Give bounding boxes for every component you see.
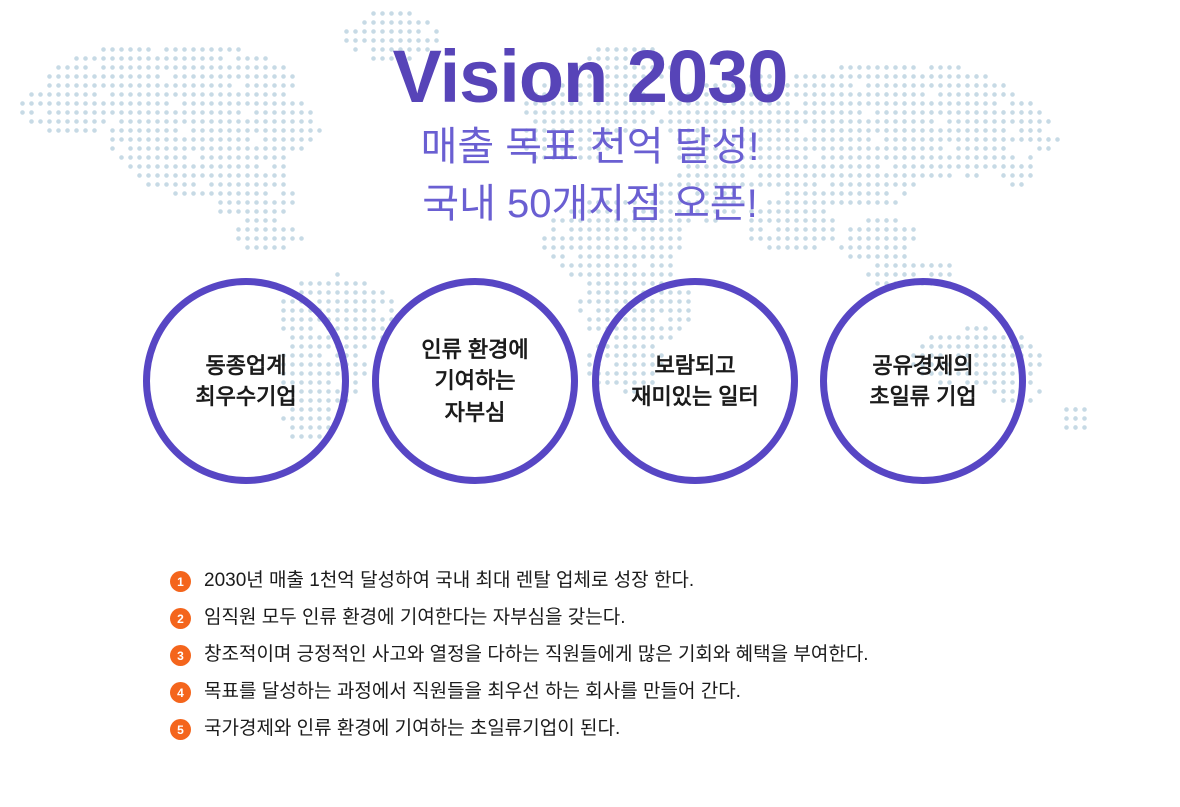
goal-number-badge: 5 — [170, 719, 191, 740]
poster-header: Vision 2030 매출 목표 천억 달성! 국내 50개지점 오픈! — [0, 38, 1180, 230]
value-circle-3-label: 보람되고 재미있는 일터 — [625, 350, 765, 412]
subtitle-line-2: 국내 50개지점 오픈! — [0, 179, 1180, 230]
value-circle-1: 동종업계 최우수기업 — [143, 278, 349, 484]
list-item: 2 임직원 모두 인류 환경에 기여한다는 자부심을 갖는다. — [170, 600, 1160, 637]
vision-2030-poster: Vision 2030 매출 목표 천억 달성! 국내 50개지점 오픈! 동종… — [0, 0, 1180, 807]
goal-text: 창조적이며 긍정적인 사고와 열정을 다하는 직원들에게 많은 기회와 혜택을 … — [204, 644, 869, 667]
subtitle-line-1: 매출 목표 천억 달성! — [0, 122, 1180, 173]
list-item: 4 목표를 달성하는 과정에서 직원들을 최우선 하는 회사를 만들어 간다. — [170, 674, 1160, 711]
goal-number-badge: 2 — [170, 608, 191, 629]
value-circle-1-label: 동종업계 최우수기업 — [189, 350, 302, 412]
goal-number-badge: 1 — [170, 571, 191, 592]
list-item: 3 창조적이며 긍정적인 사고와 열정을 다하는 직원들에게 많은 기회와 혜택… — [170, 637, 1160, 674]
goal-list: 1 2030년 매출 1천억 달성하여 국내 최대 렌탈 업체로 성장 한다. … — [170, 563, 1160, 748]
goal-text: 임직원 모두 인류 환경에 기여한다는 자부심을 갖는다. — [204, 607, 626, 630]
value-circles-row: 동종업계 최우수기업 인류 환경에 기여하는 자부심 보람되고 재미있는 일터 … — [0, 278, 1180, 496]
value-circle-3: 보람되고 재미있는 일터 — [592, 278, 798, 484]
goal-text: 2030년 매출 1천억 달성하여 국내 최대 렌탈 업체로 성장 한다. — [204, 570, 694, 593]
list-item: 1 2030년 매출 1천억 달성하여 국내 최대 렌탈 업체로 성장 한다. — [170, 563, 1160, 600]
value-circle-2: 인류 환경에 기여하는 자부심 — [372, 278, 578, 484]
list-item: 5 국가경제와 인류 환경에 기여하는 초일류기업이 된다. — [170, 711, 1160, 748]
goal-text: 목표를 달성하는 과정에서 직원들을 최우선 하는 회사를 만들어 간다. — [204, 681, 741, 704]
value-circle-2-label: 인류 환경에 기여하는 자부심 — [415, 334, 534, 428]
value-circle-4: 공유경제의 초일류 기업 — [820, 278, 1026, 484]
goal-number-badge: 3 — [170, 645, 191, 666]
goal-number-badge: 4 — [170, 682, 191, 703]
page-title: Vision 2030 — [0, 38, 1180, 116]
goal-text: 국가경제와 인류 환경에 기여하는 초일류기업이 된다. — [204, 718, 620, 741]
value-circle-4-label: 공유경제의 초일류 기업 — [863, 350, 982, 412]
